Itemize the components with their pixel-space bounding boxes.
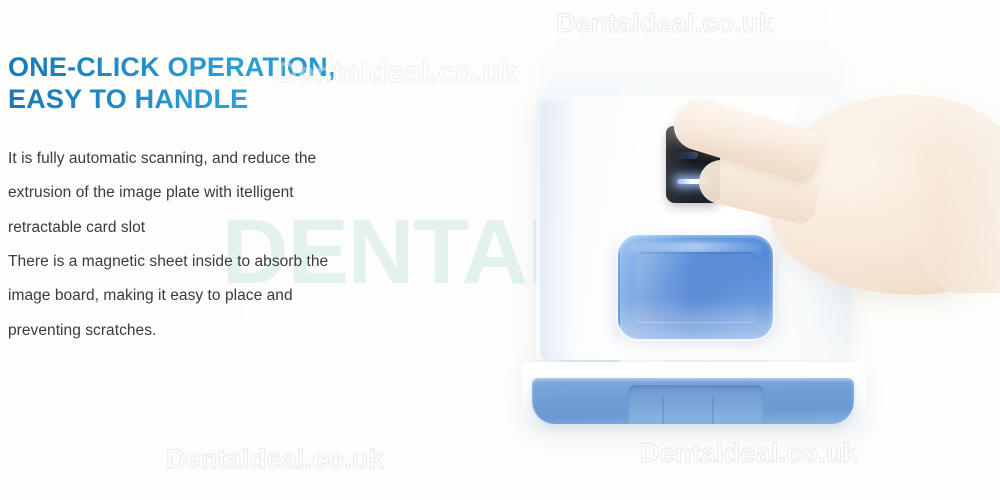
- paragraph2-line1: There is a magnetic sheet inside to abso…: [8, 245, 428, 279]
- body-paragraph-2: There is a magnetic sheet inside to abso…: [8, 245, 428, 348]
- paragraph2-line2: image board, making it easy to place and: [8, 279, 428, 313]
- output-tray[interactable]: [532, 378, 854, 424]
- paragraph1-line1: It is fully automatic scanning, and redu…: [8, 142, 428, 176]
- url-watermark-bottom-left: Dentaldeal.co.uk: [166, 444, 384, 475]
- url-watermark-top-right: Dentaldeal.co.uk: [556, 8, 774, 39]
- promo-banner: DENTALDEAL Dentaldeal.co.uk Dentaldeal.c…: [0, 0, 1000, 500]
- body-paragraph-1: It is fully automatic scanning, and redu…: [8, 142, 428, 245]
- copy-block: ONE-CLICK OPERATION, EASY TO HANDLE It i…: [8, 52, 428, 348]
- paragraph2-line3: preventing scratches.: [8, 314, 428, 348]
- url-watermark-bottom-right: Dentaldeal.co.uk: [640, 438, 858, 469]
- paragraph1-line2: extrusion of the image plate with itelli…: [8, 176, 428, 210]
- product-photo: [470, 0, 1000, 500]
- hand-illustration: [620, 85, 1000, 375]
- url-watermark-upper-mid: Dentaldeal.co.uk: [276, 56, 518, 90]
- tray-notch: [628, 385, 764, 424]
- wrist: [920, 143, 1000, 293]
- paragraph1-line3: retractable card slot: [8, 211, 428, 245]
